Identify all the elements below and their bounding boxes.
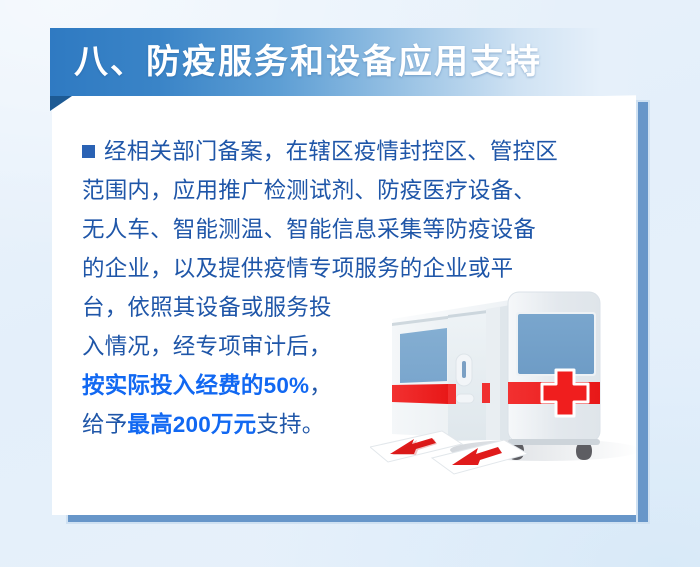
body-line-2: 范围内，应用推广检测试剂、防疫医疗设备、: [82, 171, 622, 210]
emphasis-amount-tail: 支持。: [256, 412, 324, 437]
body-line-emphasis-1: 按实际投入经费的50%，: [82, 366, 622, 405]
emphasis-percent: 按实际投入经费的50%: [82, 373, 309, 398]
body-line-1-text: 经相关部门备案，在辖区疫情封控区、管控区: [104, 139, 558, 164]
ribbon-fold-corner: [50, 96, 72, 111]
body-line-4: 的企业，以及提供疫情专项服务的企业或平: [82, 249, 622, 288]
infographic-page: 八、防疫服务和设备应用支持: [0, 0, 700, 567]
emphasis-percent-tail: ，: [309, 373, 332, 398]
body-line-5: 台，依照其设备或服务投: [82, 288, 622, 327]
page-title: 八、防疫服务和设备应用支持: [74, 36, 542, 88]
emphasis-amount: 最高200万元: [127, 412, 256, 437]
body-line-1: 经相关部门备案，在辖区疫情封控区、管控区: [82, 132, 622, 171]
body-line-3: 无人车、智能测温、智能信息采集等防疫设备: [82, 210, 622, 249]
emphasis-amount-lead: 给予: [82, 412, 127, 437]
body-line-6: 入情况，经专项审计后，: [82, 327, 622, 366]
body-text-block: 经相关部门备案，在辖区疫情封控区、管控区 范围内，应用推广检测试剂、防疫医疗设备…: [82, 132, 622, 444]
square-bullet-icon: [82, 145, 95, 158]
body-line-emphasis-2: 给予最高200万元支持。: [82, 405, 622, 444]
